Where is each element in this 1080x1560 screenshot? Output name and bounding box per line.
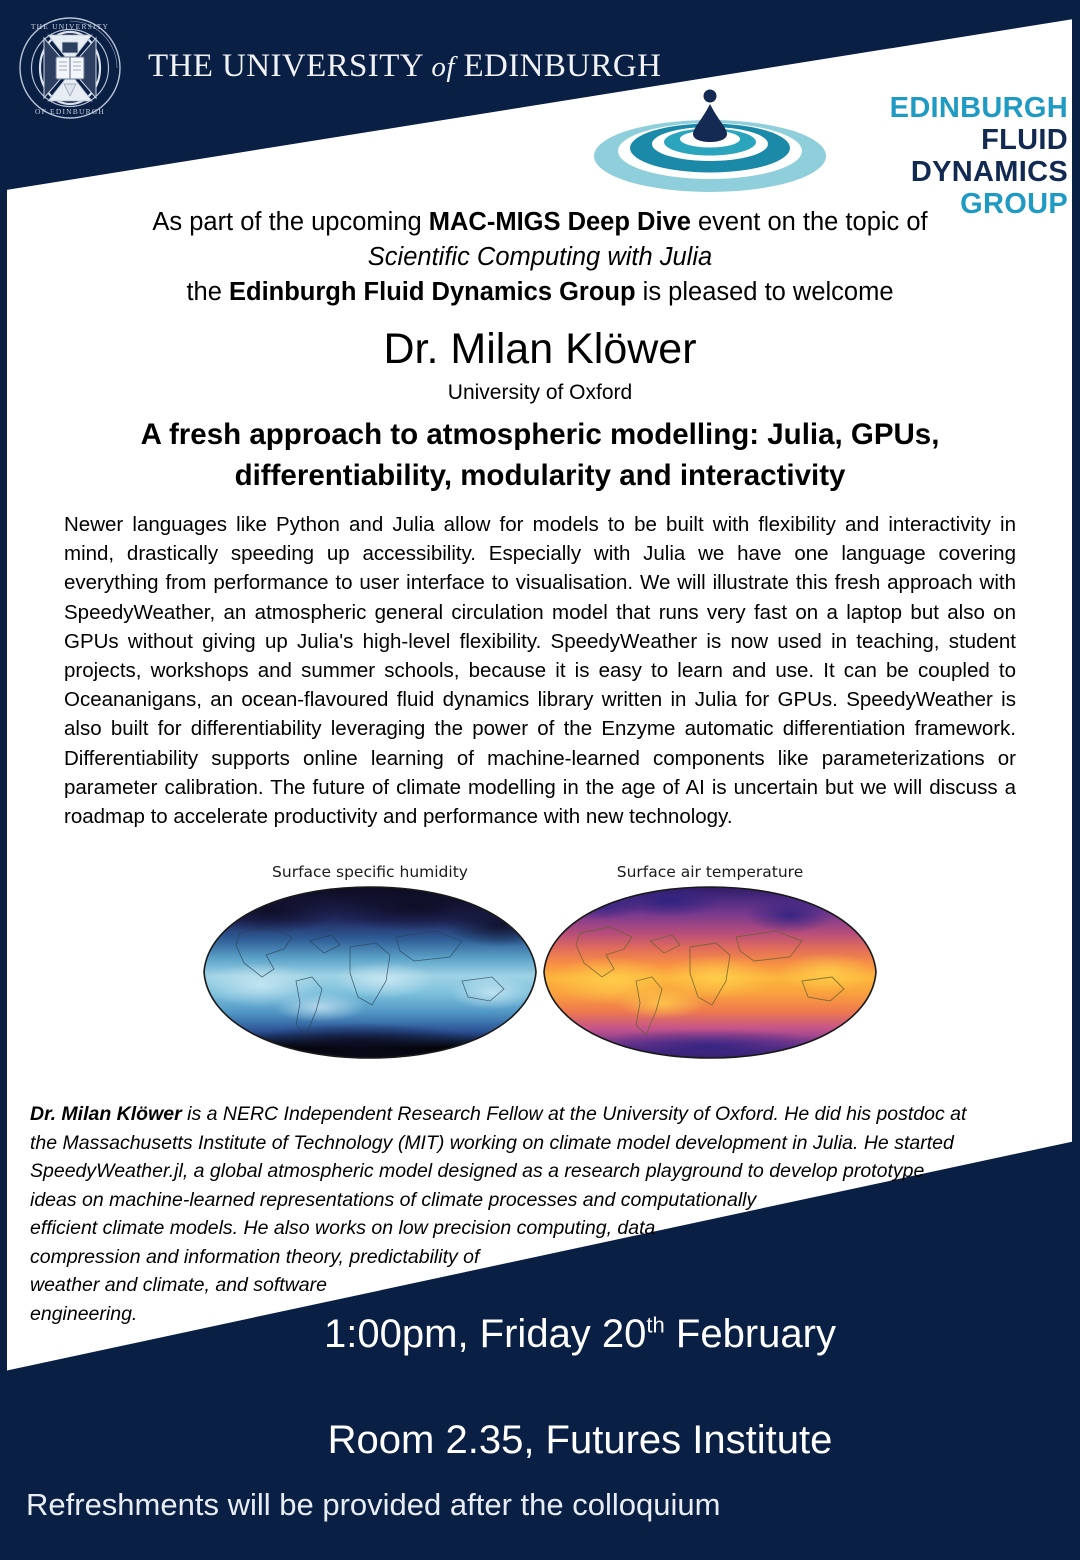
talk-title: A fresh approach to atmospheric modellin… [90,414,990,496]
figure-humidity: Surface specific humidity [185,863,555,1060]
intro-line-2: Scientific Computing with Julia [60,240,1020,275]
bio-line-1-text: is a NERC Independent Research Fellow at… [182,1103,967,1125]
right-border-strip [1072,0,1080,1560]
wordmark-the-university: THE UNIVERSITY [148,48,423,84]
intro-line-1: As part of the upcoming MAC-MIGS Deep Di… [60,205,1020,240]
poster-root: THE UNIVERSITY OF EDINBURGH THE UNIVERSI… [0,0,1080,1560]
figure-caption-humidity: Surface specific humidity [185,863,555,881]
wordmark-edinburgh: EDINBURGH [463,48,661,84]
figure-caption-temperature: Surface air temperature [525,863,895,881]
event-datetime: 1:00pm, Friday 20th February [120,1312,1040,1357]
figure-row: Surface specific humidity [60,863,1020,1068]
event-location: Room 2.35, Futures Institute [120,1418,1040,1463]
bio-line-2: the Massachusetts Institute of Technolog… [30,1129,990,1158]
event-date-ordinal: th [646,1313,664,1338]
efd-group-logotype: EDINBURGH FLUID DYNAMICS GROUP [818,92,1068,220]
intro-line-3-suffix: is pleased to welcome [636,278,894,306]
efd-logo-line-edinburgh: EDINBURGH [818,92,1068,124]
university-crest-icon: THE UNIVERSITY OF EDINBURGH [18,16,122,120]
bio-line-4: ideas on machine-learned representations… [30,1186,850,1215]
university-wordmark: THE UNIVERSITY of EDINBURGH [148,48,661,85]
bio-line-1: Dr. Milan Klöwer is a NERC Independent R… [30,1100,990,1129]
globe-humidity-image [200,885,540,1060]
efd-logo-line-fluid-dynamics: FLUID DYNAMICS [818,124,1068,188]
speaker-affiliation: University of Oxford [60,381,1020,405]
globe-temperature-image [540,885,880,1060]
speaker-bio: Dr. Milan Klöwer is a NERC Independent R… [30,1100,990,1328]
intro-line-1-suffix: event on the topic of [691,208,928,236]
left-border-strip [0,0,7,1560]
svg-text:THE UNIVERSITY: THE UNIVERSITY [31,22,109,31]
wordmark-of: of [431,51,454,83]
bio-speaker-name: Dr. Milan Klöwer [30,1103,182,1125]
bio-line-3: SpeedyWeather.jl, a global atmospheric m… [30,1157,990,1186]
event-intro: As part of the upcoming MAC-MIGS Deep Di… [60,205,1020,310]
intro-line-1-prefix: As part of the upcoming [152,208,428,236]
abstract-text: Newer languages like Python and Julia al… [64,510,1016,831]
intro-line-3-prefix: the [186,278,229,306]
svg-text:OF EDINBURGH: OF EDINBURGH [35,107,105,116]
event-time-prefix: 1:00pm, Friday 20 [324,1312,646,1356]
intro-host-group: Edinburgh Fluid Dynamics Group [229,278,636,306]
event-month: February [665,1312,836,1356]
intro-topic: Scientific Computing with Julia [368,243,712,271]
speaker-name: Dr. Milan Klöwer [60,325,1020,374]
bio-line-6: compression and information theory, pred… [30,1243,610,1272]
intro-event-name: MAC-MIGS Deep Dive [429,208,691,236]
figure-temperature: Surface air temperature [525,863,895,1060]
water-droplet-ripple-icon [592,84,832,194]
intro-line-3: the Edinburgh Fluid Dynamics Group is pl… [60,275,1020,310]
refreshments-note: Refreshments will be provided after the … [26,1487,720,1523]
bio-line-7: weather and climate, and software [30,1271,500,1300]
bio-line-5: efficient climate models. He also works … [30,1214,730,1243]
